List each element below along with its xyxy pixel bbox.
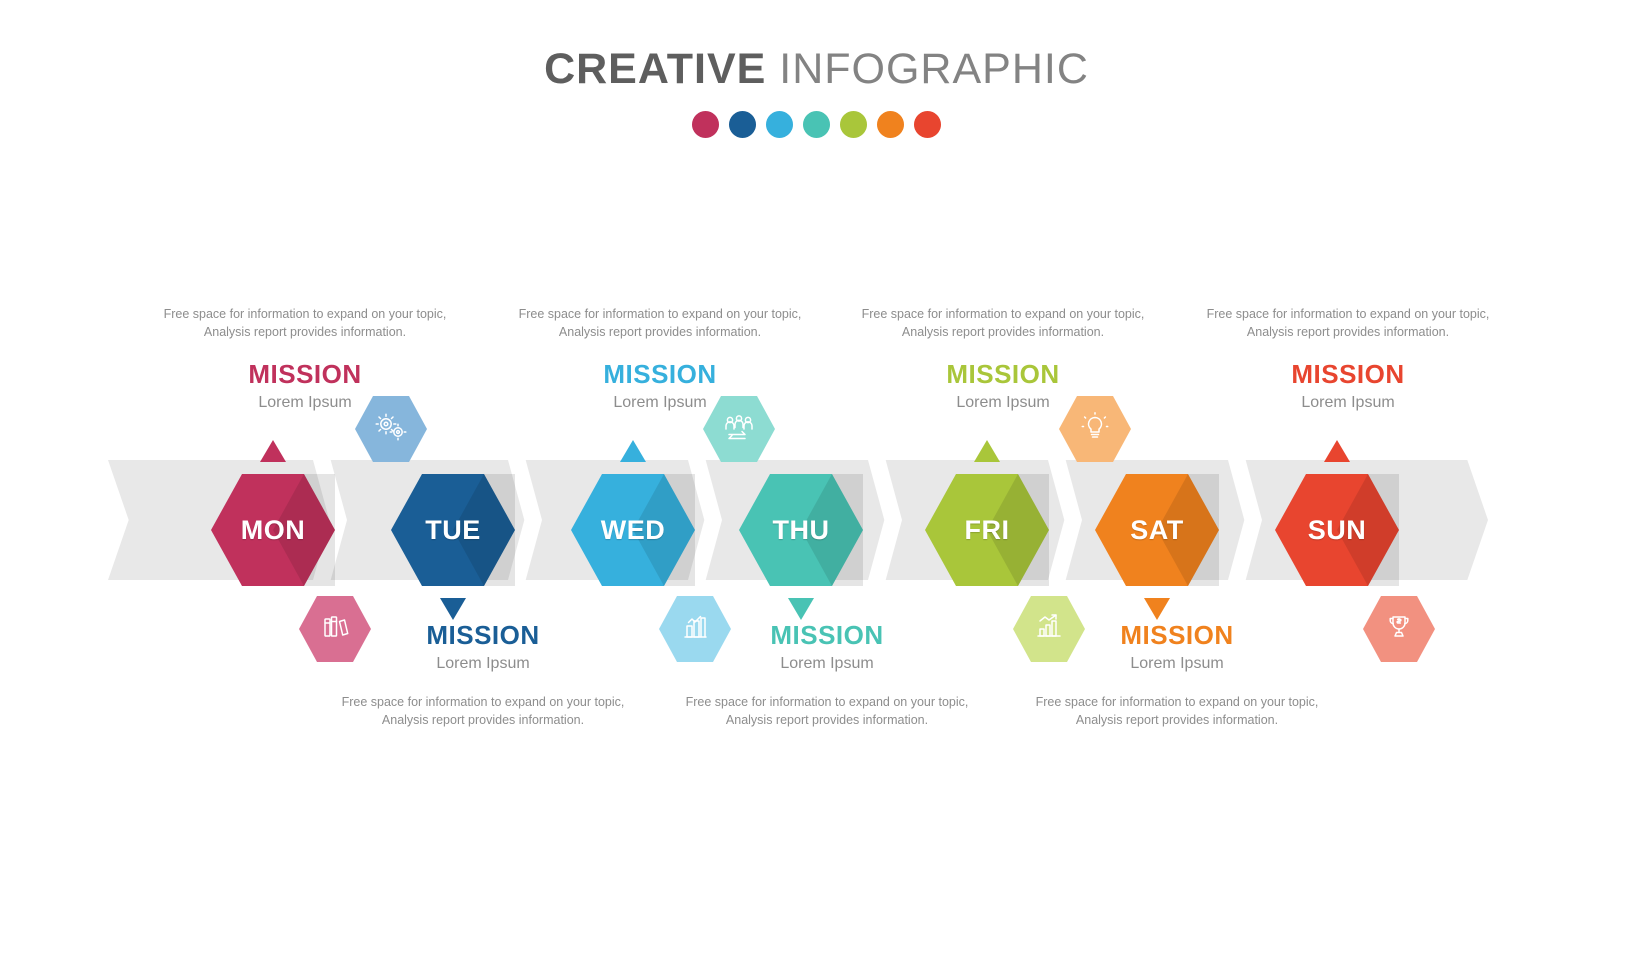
info-block-thu: MISSION Lorem Ipsum Free space for infor… — [662, 620, 992, 729]
free-space-line-1: Free space for information to expand on … — [318, 693, 648, 711]
mission-group: MISSION Lorem Ipsum — [838, 359, 1168, 414]
free-space-line-2: Analysis report provides information. — [1012, 711, 1342, 729]
info-block-sun: Free space for information to expand on … — [1183, 305, 1513, 414]
day-label: SAT — [1130, 515, 1184, 546]
day-label: FRI — [965, 515, 1010, 546]
free-space-line-1: Free space for information to expand on … — [662, 693, 992, 711]
mission-group: MISSION Lorem Ipsum — [495, 359, 825, 414]
day-label: SUN — [1308, 515, 1367, 546]
pointer-triangle-wed — [620, 440, 646, 462]
free-space-line-2: Analysis report provides information. — [1183, 323, 1513, 341]
day-hex-fri[interactable]: FRI — [925, 474, 1049, 586]
growth-chart-icon — [1034, 612, 1064, 647]
mission-title: MISSION — [1183, 359, 1513, 390]
free-space-line-2: Analysis report provides information. — [140, 323, 470, 341]
page-title: CREATIVE INFOGRAPHIC — [0, 46, 1633, 93]
header: CREATIVE INFOGRAPHIC — [0, 46, 1633, 138]
free-space-text: Free space for information to expand on … — [662, 693, 992, 729]
mission-title: MISSION — [140, 359, 470, 390]
free-space-line-1: Free space for information to expand on … — [1012, 693, 1342, 711]
team-sync-icon — [722, 412, 756, 447]
title-light: INFOGRAPHIC — [779, 45, 1089, 93]
pointer-triangle-thu — [788, 598, 814, 620]
mission-subtitle: Lorem Ipsum — [838, 393, 1168, 414]
mission-title: MISSION — [318, 620, 648, 651]
day-hex-tue[interactable]: TUE — [391, 474, 515, 586]
pointer-triangle-sat — [1144, 598, 1170, 620]
color-dot-5 — [840, 111, 867, 138]
free-space-text: Free space for information to expand on … — [140, 305, 470, 341]
free-space-line-2: Analysis report provides information. — [838, 323, 1168, 341]
day-label: WED — [601, 515, 666, 546]
day-label: THU — [773, 515, 830, 546]
mission-title: MISSION — [495, 359, 825, 390]
mission-subtitle: Lorem Ipsum — [1183, 393, 1513, 414]
pointer-triangle-fri — [974, 440, 1000, 462]
day-hex-wed[interactable]: WED — [571, 474, 695, 586]
mission-title: MISSION — [838, 359, 1168, 390]
mission-subtitle: Lorem Ipsum — [495, 393, 825, 414]
free-space-text: Free space for information to expand on … — [1012, 693, 1342, 729]
free-space-text: Free space for information to expand on … — [838, 305, 1168, 341]
money-trophy-icon — [1384, 612, 1414, 647]
color-dot-4 — [803, 111, 830, 138]
free-space-text: Free space for information to expand on … — [1183, 305, 1513, 341]
color-dot-3 — [766, 111, 793, 138]
money-trophy-icon-hex[interactable] — [1363, 596, 1435, 662]
pointer-triangle-mon — [260, 440, 286, 462]
color-dot-1 — [692, 111, 719, 138]
free-space-line-1: Free space for information to expand on … — [140, 305, 470, 323]
free-space-line-1: Free space for information to expand on … — [838, 305, 1168, 323]
free-space-line-2: Analysis report provides information. — [318, 711, 648, 729]
mission-subtitle: Lorem Ipsum — [318, 654, 648, 675]
free-space-text: Free space for information to expand on … — [318, 693, 648, 729]
pointer-triangle-tue — [440, 598, 466, 620]
mission-subtitle: Lorem Ipsum — [662, 654, 992, 675]
pointer-triangle-sun — [1324, 440, 1350, 462]
free-space-line-2: Analysis report provides information. — [495, 323, 825, 341]
mission-title: MISSION — [662, 620, 992, 651]
mission-subtitle: Lorem Ipsum — [1012, 654, 1342, 675]
books-icon — [320, 612, 350, 647]
day-label: TUE — [425, 515, 481, 546]
color-dot-6 — [877, 111, 904, 138]
color-dot-2 — [729, 111, 756, 138]
day-hex-sat[interactable]: SAT — [1095, 474, 1219, 586]
mission-group: MISSION Lorem Ipsum — [662, 620, 992, 675]
gears-icon — [374, 412, 408, 447]
mission-group: MISSION Lorem Ipsum — [1183, 359, 1513, 414]
info-block-mon: Free space for information to expand on … — [140, 305, 470, 414]
info-block-tue: MISSION Lorem Ipsum Free space for infor… — [318, 620, 648, 729]
title-bold: CREATIVE — [544, 45, 766, 93]
info-block-wed: Free space for information to expand on … — [495, 305, 825, 414]
free-space-line-1: Free space for information to expand on … — [495, 305, 825, 323]
free-space-line-1: Free space for information to expand on … — [1183, 305, 1513, 323]
day-hex-mon[interactable]: MON — [211, 474, 335, 586]
chart-building-icon — [680, 612, 710, 647]
mission-group: MISSION Lorem Ipsum — [140, 359, 470, 414]
day-hex-sun[interactable]: SUN — [1275, 474, 1399, 586]
lightbulb-icon — [1081, 412, 1109, 447]
day-label: MON — [241, 515, 306, 546]
mission-subtitle: Lorem Ipsum — [140, 393, 470, 414]
info-block-fri: Free space for information to expand on … — [838, 305, 1168, 414]
free-space-line-2: Analysis report provides information. — [662, 711, 992, 729]
mission-group: MISSION Lorem Ipsum — [318, 620, 648, 675]
color-dot-7 — [914, 111, 941, 138]
color-dots — [0, 111, 1633, 138]
day-hex-thu[interactable]: THU — [739, 474, 863, 586]
free-space-text: Free space for information to expand on … — [495, 305, 825, 341]
